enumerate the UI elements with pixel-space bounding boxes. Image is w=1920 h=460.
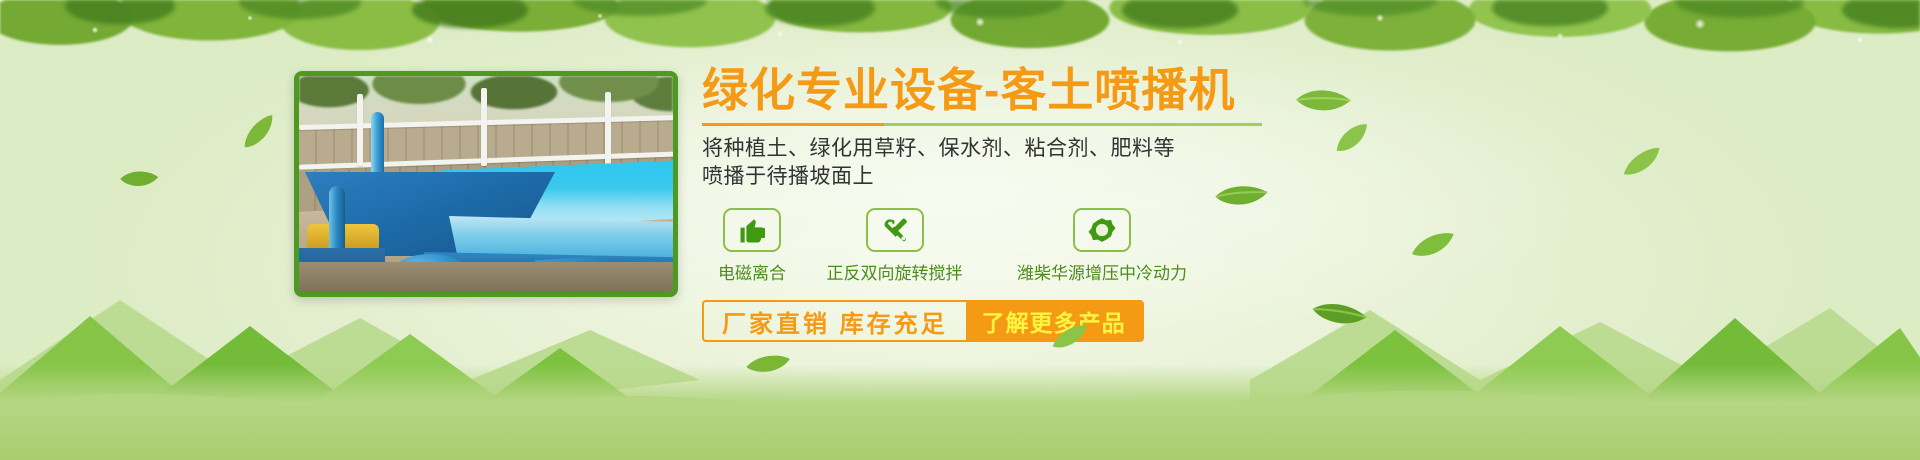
description-line-2: 喷播于待播坡面上 — [702, 163, 1402, 191]
feature-item-bidirectional-mixing[interactable]: 正反双向旋转搅拌 — [802, 208, 987, 284]
photo-ground — [299, 262, 673, 292]
feature-label-1: 电磁离合 — [702, 259, 802, 284]
feature-icon-box-1 — [723, 208, 781, 252]
cta-bar: 厂家直销 库存充足 了解更多产品 — [702, 300, 1144, 342]
thumbs-up-icon — [737, 216, 767, 244]
promo-banner: 绿化专业设备-客土喷播机 将种植土、绿化用草籽、保水剂、粘合剂、肥料等 喷播于待… — [0, 0, 1920, 460]
top-foliage-shadow — [0, 0, 1920, 62]
grass-strip — [0, 364, 1920, 460]
feature-icon-box-2 — [866, 208, 924, 252]
floating-leaf-10 — [1617, 144, 1666, 180]
photo-railing-post-2 — [481, 88, 487, 166]
wrench-screwdriver-icon — [880, 216, 910, 244]
banner-content: 绿化专业设备-客土喷播机 将种植土、绿化用草籽、保水剂、粘合剂、肥料等 喷播于待… — [702, 66, 1402, 342]
product-photo-card[interactable] — [294, 71, 678, 297]
page-title: 绿化专业设备-客土喷播机 — [702, 66, 1402, 115]
feature-item-engine-power[interactable]: 潍柴华源增压中冷动力 — [987, 208, 1217, 284]
gear-icon — [1087, 216, 1117, 244]
cta-tagline: 厂家直销 库存充足 — [704, 302, 966, 340]
feature-label-2: 正反双向旋转搅拌 — [802, 259, 987, 284]
feature-list: 电磁离合 正反双向旋转搅拌 — [702, 208, 1402, 284]
learn-more-button[interactable]: 了解更多产品 — [966, 302, 1142, 340]
photo-railing-post-1 — [357, 94, 363, 166]
description-line-1: 将种植土、绿化用草籽、保水剂、粘合剂、肥料等 — [702, 135, 1402, 163]
title-divider — [702, 123, 1262, 126]
product-photo — [299, 76, 673, 292]
feature-label-3: 潍柴华源增压中冷动力 — [987, 259, 1217, 284]
floating-leaf-9 — [118, 163, 161, 195]
feature-icon-box-3 — [1073, 208, 1131, 252]
feature-item-electromagnetic-clutch[interactable]: 电磁离合 — [702, 208, 802, 284]
photo-railing-post-3 — [605, 92, 611, 166]
